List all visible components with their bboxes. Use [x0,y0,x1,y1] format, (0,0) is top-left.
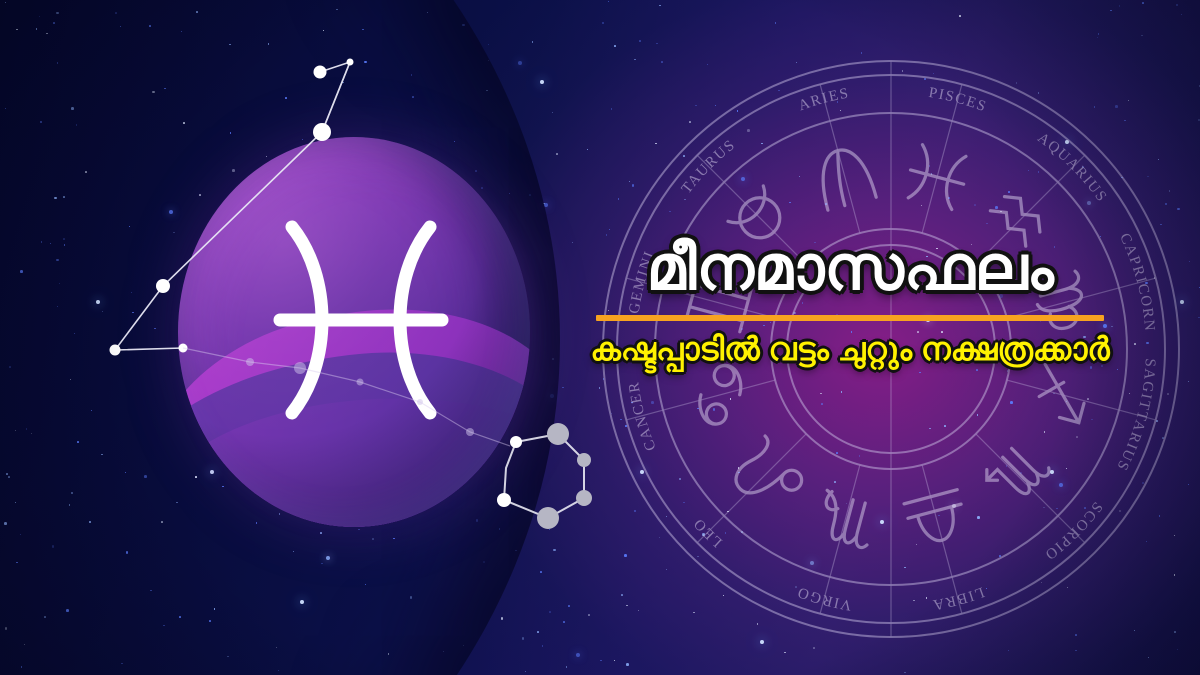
banner-subtitle: കഷ്ടപ്പാടിൽ വട്ടം ചുറ്റും നക്ഷത്രക്കാർ [520,331,1180,369]
horoscope-banner: PISCESAQUARIUSCAPRICORNSAGITTARIUSSCORPI… [0,0,1200,675]
text-block: മീനമാസഫലം കഷ്ടപ്പാടിൽ വട്ടം ചുറ്റും നക്ഷ… [520,236,1180,369]
title-divider [596,315,1104,321]
banner-title: മീനമാസഫലം [520,236,1180,303]
